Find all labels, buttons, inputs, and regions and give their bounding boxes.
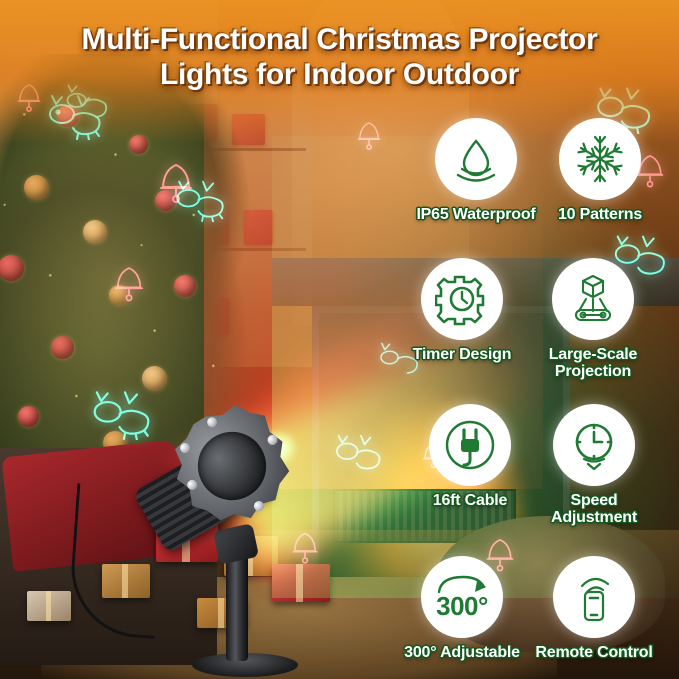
- feature-icon-circle: [552, 258, 634, 340]
- ornament: [155, 190, 176, 211]
- feature-label: Large-Scale Projection: [549, 346, 638, 381]
- feature-icon-circle: [553, 404, 635, 486]
- gift-box: [27, 591, 71, 621]
- ornament: [142, 366, 167, 391]
- ornament: [129, 135, 148, 154]
- projector-stand: [226, 551, 248, 661]
- feature-icon-circle: [421, 258, 503, 340]
- feature-16ft-cable[interactable]: 16ft Cable: [404, 404, 536, 509]
- feature-ip65-waterproof[interactable]: IP65 Waterproof: [410, 118, 542, 223]
- ornament: [24, 175, 49, 200]
- feature-large-scale-projection[interactable]: Large-Scale Projection: [527, 258, 659, 381]
- feature-icon-circle: [435, 118, 517, 200]
- feature-label: 300° Adjustable: [404, 644, 520, 661]
- ornament: [18, 406, 39, 427]
- feature-label: Remote Control: [535, 644, 652, 661]
- remote-control-icon: [568, 570, 620, 624]
- feature-speed-adjustment[interactable]: Speed Adjustment: [528, 404, 660, 527]
- title-line-2: Lights for Indoor Outdoor: [160, 58, 519, 91]
- feature-label: 16ft Cable: [433, 492, 507, 509]
- speed-clock-icon: [567, 418, 621, 472]
- feature-timer-design[interactable]: Timer Design: [396, 258, 528, 363]
- page-title: Multi-Functional Christmas Projector Lig…: [0, 22, 679, 92]
- feature-300-adjustable[interactable]: 300° 300° Adjustable: [396, 556, 528, 661]
- feature-label: IP65 Waterproof: [416, 206, 535, 223]
- feature-icon-circle: 300°: [421, 556, 503, 638]
- ornament: [0, 255, 24, 281]
- feature-label: 10 Patterns: [558, 206, 642, 223]
- product-image: Multi-Functional Christmas Projector Lig…: [0, 0, 679, 679]
- projection-cube-icon: [566, 272, 620, 326]
- ornament: [51, 336, 74, 359]
- christmas-laser-projector: [140, 404, 325, 679]
- feature-label: Timer Design: [413, 346, 512, 363]
- feature-icon-circle: [429, 404, 511, 486]
- rotation-degrees-value: 300°: [433, 591, 491, 622]
- ornament: [83, 220, 107, 244]
- gear-clock-icon: [435, 272, 489, 326]
- power-plug-icon: [442, 417, 498, 473]
- feature-icon-circle: [553, 556, 635, 638]
- water-drop-icon: [450, 133, 502, 185]
- feature-icon-circle: [559, 118, 641, 200]
- snowflake-icon: [574, 133, 626, 185]
- feature-remote-control[interactable]: Remote Control: [528, 556, 660, 661]
- ornament: [109, 285, 129, 305]
- feature-label: Speed Adjustment: [528, 492, 660, 527]
- rotation-300-icon: 300°: [433, 572, 491, 622]
- title-line-1: Multi-Functional Christmas Projector: [82, 23, 598, 56]
- ornament: [174, 275, 196, 297]
- feature-10-patterns[interactable]: 10 Patterns: [534, 118, 666, 223]
- ornament: [57, 105, 79, 127]
